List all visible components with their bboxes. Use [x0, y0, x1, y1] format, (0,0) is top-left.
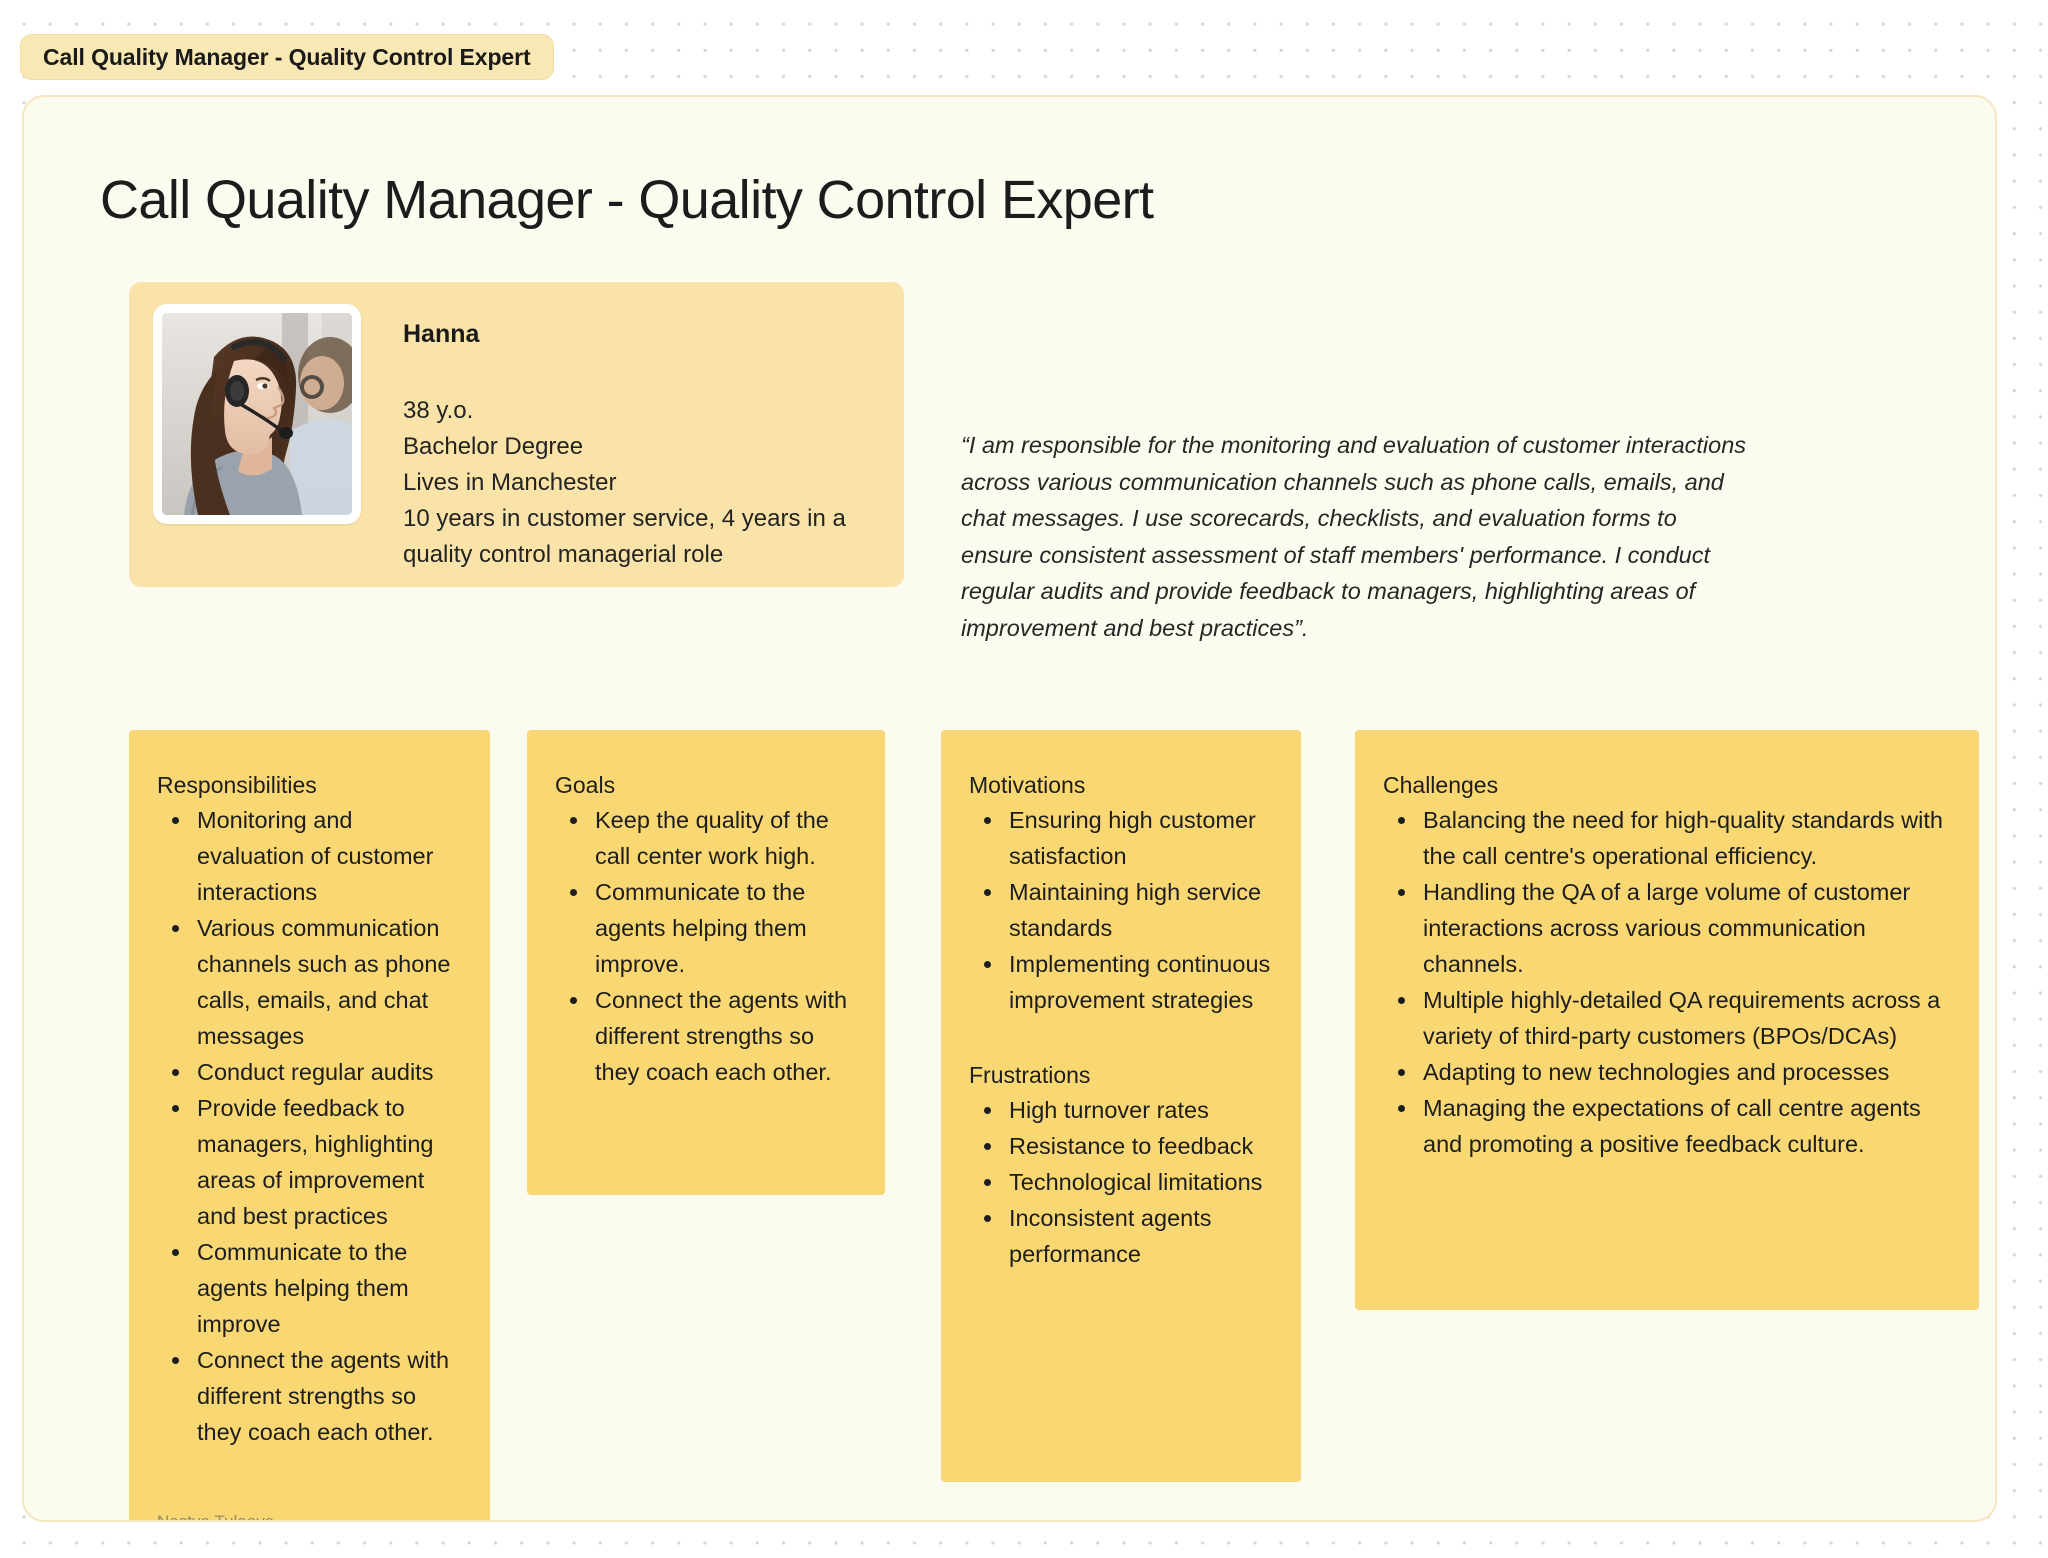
list-item: Inconsistent agents performance: [1005, 1200, 1273, 1272]
document-tab-chip[interactable]: Call Quality Manager - Quality Control E…: [20, 34, 554, 80]
list-item: Resistance to feedback: [1005, 1128, 1273, 1164]
persona-quote: “I am responsible for the monitoring and…: [961, 427, 1751, 646]
list-item: Keep the quality of the call center work…: [591, 802, 857, 874]
note-challenges: Challenges Balancing the need for high-q…: [1355, 730, 1979, 1310]
note-author: Nastya Tulaeva: [157, 1512, 274, 1522]
profile-education: Bachelor Degree: [403, 429, 873, 465]
profile-age: 38 y.o.: [403, 393, 873, 429]
list-item: Multiple highly-detailed QA requirements…: [1419, 982, 1951, 1054]
list-item: Implementing continuous improvement stra…: [1005, 946, 1273, 1018]
profile-info: Hanna 38 y.o. Bachelor Degree Lives in M…: [361, 304, 873, 565]
profile-experience: 10 years in customer service, 4 years in…: [403, 501, 873, 573]
list-item: Managing the expectations of call centre…: [1419, 1090, 1951, 1162]
list-item: Balancing the need for high-quality stan…: [1419, 802, 1951, 874]
note-heading-motivations: Motivations: [969, 772, 1273, 799]
list-item: Connect the agents with different streng…: [193, 1342, 462, 1450]
list-item: Adapting to new technologies and process…: [1419, 1054, 1951, 1090]
avatar-photo: [162, 313, 352, 515]
list-item: Handling the QA of a large volume of cus…: [1419, 874, 1951, 982]
list-item: High turnover rates: [1005, 1092, 1273, 1128]
note-heading-responsibilities: Responsibilities: [157, 772, 462, 799]
persona-board: Call Quality Manager - Quality Control E…: [22, 95, 1997, 1522]
note-heading-frustrations: Frustrations: [969, 1062, 1273, 1089]
responsibilities-list: Monitoring and evaluation of customer in…: [157, 802, 462, 1450]
profile-name: Hanna: [403, 320, 873, 349]
note-motivations-frustrations: Motivations Ensuring high customer satis…: [941, 730, 1301, 1482]
list-item: Technological limitations: [1005, 1164, 1273, 1200]
list-item: Monitoring and evaluation of customer in…: [193, 802, 462, 910]
list-item: Provide feedback to managers, highlighti…: [193, 1090, 462, 1234]
page-title: Call Quality Manager - Quality Control E…: [100, 169, 1153, 231]
persona-profile-card: Hanna 38 y.o. Bachelor Degree Lives in M…: [129, 282, 904, 587]
note-goals: Goals Keep the quality of the call cente…: [527, 730, 885, 1195]
motivations-list: Ensuring high customer satisfaction Main…: [969, 802, 1273, 1018]
profile-location: Lives in Manchester: [403, 465, 873, 501]
note-heading-challenges: Challenges: [1383, 772, 1951, 799]
list-item: Conduct regular audits: [193, 1054, 462, 1090]
list-item: Communicate to the agents helping them i…: [591, 874, 857, 982]
list-item: Ensuring high customer satisfaction: [1005, 802, 1273, 874]
avatar-frame: [153, 304, 361, 524]
document-chip-bar: Call Quality Manager - Quality Control E…: [0, 0, 2048, 84]
note-heading-goals: Goals: [555, 772, 857, 799]
note-responsibilities: Responsibilities Monitoring and evaluati…: [129, 730, 490, 1522]
list-item: Communicate to the agents helping them i…: [193, 1234, 462, 1342]
goals-list: Keep the quality of the call center work…: [555, 802, 857, 1090]
list-item: Maintaining high service standards: [1005, 874, 1273, 946]
frustrations-list: High turnover rates Resistance to feedba…: [969, 1092, 1273, 1272]
challenges-list: Balancing the need for high-quality stan…: [1383, 802, 1951, 1162]
list-item: Various communication channels such as p…: [193, 910, 462, 1054]
list-item: Connect the agents with different streng…: [591, 982, 857, 1090]
